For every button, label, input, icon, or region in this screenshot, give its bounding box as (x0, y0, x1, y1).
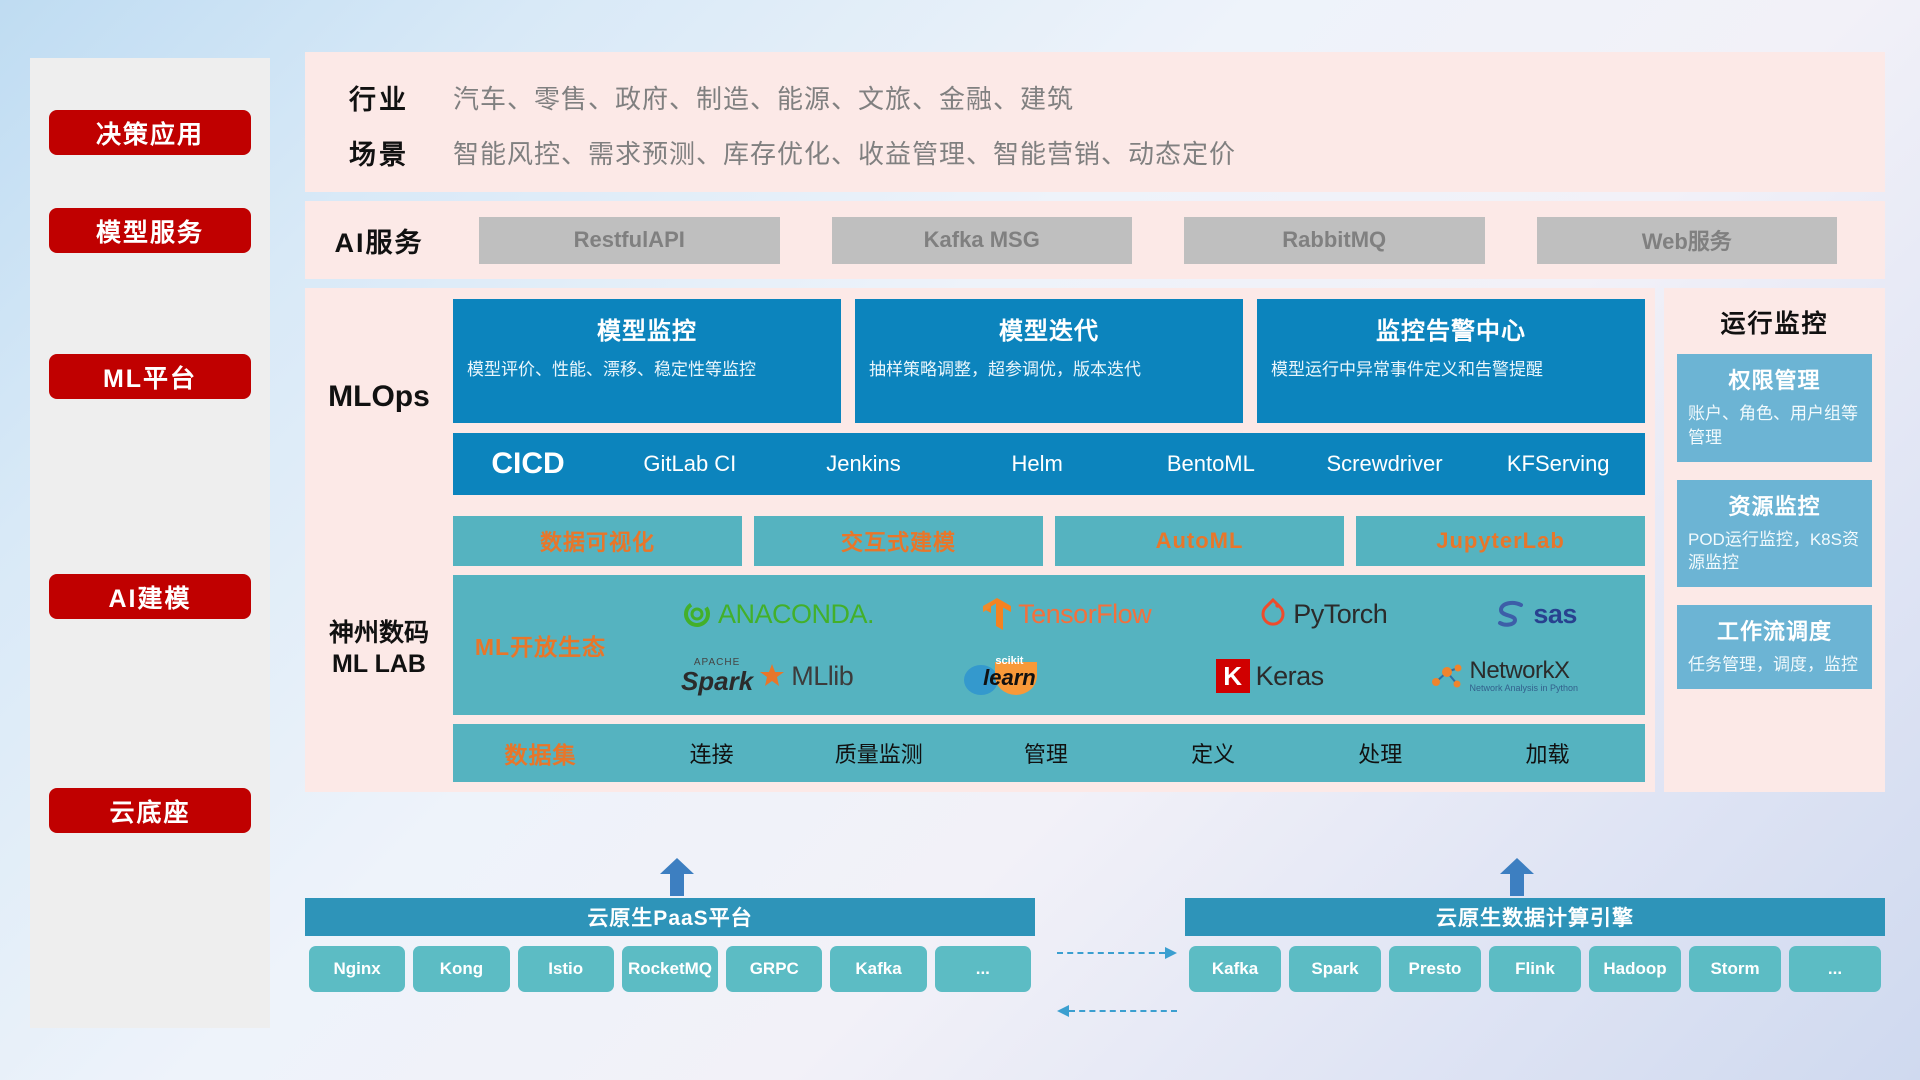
card-desc: 任务管理，调度，监控 (1688, 653, 1861, 677)
rail-item-label: 模型服务 (96, 213, 204, 249)
mllib-text: MLlib (791, 661, 853, 692)
engine-chip-flink[interactable]: Flink (1489, 946, 1581, 992)
card-desc: 模型运行中异常事件定义和告警提醒 (1271, 358, 1631, 383)
ai-service-band: AI服务 RestfulAPI Kafka MSG RabbitMQ Web服务 (305, 201, 1885, 279)
compute-engine-title: 云原生数据计算引擎 (1185, 898, 1885, 936)
card-title: 模型迭代 (869, 311, 1229, 346)
compute-engine-group: 云原生数据计算引擎 Kafka Spark Presto Flink Hadoo… (1185, 898, 1885, 996)
card-title: 工作流调度 (1688, 614, 1861, 646)
dataset-item-connect[interactable]: 连接 (628, 737, 795, 769)
dataset-row: 数据集 连接 质量监测 管理 定义 处理 加载 (453, 724, 1645, 782)
cicd-bar: CICD GitLab CI Jenkins Helm BentoML Scre… (453, 433, 1645, 495)
ai-chip-kafka-msg[interactable]: Kafka MSG (832, 217, 1133, 264)
runtime-monitoring-title: 运行监控 (1677, 304, 1872, 340)
paas-chip-rocketmq[interactable]: RocketMQ (622, 946, 718, 992)
rail-item-model-service[interactable]: 模型服务 (49, 208, 251, 253)
networkx-text: NetworkX (1470, 658, 1579, 684)
mlops-card-model-monitoring[interactable]: 模型监控 模型评价、性能、漂移、稳定性等监控 (453, 299, 841, 423)
pytorch-text: PyTorch (1293, 599, 1387, 630)
platform-region: MLOps 模型监控 模型评价、性能、漂移、稳定性等监控 模型迭代 抽样策略调整… (305, 288, 1885, 792)
mlops-band: MLOps 模型监控 模型评价、性能、漂移、稳定性等监控 模型迭代 抽样策略调整… (305, 288, 1655, 506)
sas-text: sas (1533, 599, 1577, 630)
scenario-row: 场景 智能风控、需求预测、库存优化、收益管理、智能营销、动态定价 (305, 125, 1885, 180)
ml-open-ecosystem: ML开放生态 ANACONDA. TensorFlow (453, 575, 1645, 715)
runtime-monitoring-panel: 运行监控 权限管理 账户、角色、用户组等管理 资源监控 POD运行监控，K8S资… (1664, 288, 1885, 792)
ai-chip-web-service[interactable]: Web服务 (1537, 217, 1838, 264)
engine-chip-hadoop[interactable]: Hadoop (1589, 946, 1681, 992)
spark-text: Spark (681, 668, 753, 694)
ai-service-label: AI服务 (305, 221, 453, 260)
eco-logo-row-1: ANACONDA. TensorFlow PyTorch (628, 583, 1631, 645)
keras-mark: K (1216, 659, 1250, 693)
spark-star-icon (759, 663, 785, 689)
mlops-card-list: 模型监控 模型评价、性能、漂移、稳定性等监控 模型迭代 抽样策略调整，超参调优，… (453, 299, 1645, 423)
cicd-title: CICD (453, 447, 603, 481)
eco-logo-row-2: APACHE Spark MLlib (628, 645, 1631, 707)
learn-text: learn (983, 667, 1036, 689)
rail-item-decision-apps[interactable]: 决策应用 (49, 110, 251, 155)
card-title: 监控告警中心 (1271, 311, 1631, 346)
anaconda-logo: ANACONDA. (682, 599, 874, 630)
card-desc: 模型评价、性能、漂移、稳定性等监控 (467, 358, 827, 383)
cicd-item-jenkins[interactable]: Jenkins (777, 453, 951, 475)
dataset-item-process[interactable]: 处理 (1297, 737, 1464, 769)
rail-item-label: ML平台 (103, 359, 197, 395)
cicd-item-screwdriver[interactable]: Screwdriver (1298, 453, 1472, 475)
cicd-item-kfserving[interactable]: KFServing (1471, 453, 1645, 475)
engine-chip-kafka[interactable]: Kafka (1189, 946, 1281, 992)
anaconda-text: ANACONDA. (718, 599, 874, 630)
ai-chip-restfulapi[interactable]: RestfulAPI (479, 217, 780, 264)
sas-logo: sas (1495, 599, 1577, 630)
ai-service-items: RestfulAPI Kafka MSG RabbitMQ Web服务 (453, 217, 1885, 264)
card-desc: 抽样策略调整，超参调优，版本迭代 (869, 358, 1229, 383)
networkx-logo: NetworkX Network Analysis in Python (1430, 658, 1579, 694)
card-desc: POD运行监控，K8S资源监控 (1688, 528, 1861, 576)
paas-group: 云原生PaaS平台 Nginx Kong Istio RocketMQ GRPC… (305, 898, 1035, 996)
up-arrow-icon-engine (1500, 858, 1534, 896)
mlops-card-alert-center[interactable]: 监控告警中心 模型运行中异常事件定义和告警提醒 (1257, 299, 1645, 423)
card-title: 权限管理 (1688, 363, 1861, 395)
arrow-left-icon (1057, 1010, 1177, 1012)
card-desc: 账户、角色、用户组等管理 (1688, 402, 1861, 450)
monitor-card-workflow[interactable]: 工作流调度 任务管理，调度，监控 (1677, 605, 1872, 689)
industry-values: 汽车、零售、政府、制造、能源、文旅、金融、建筑 (453, 79, 1074, 116)
cloud-foundation-region: 云原生PaaS平台 Nginx Kong Istio RocketMQ GRPC… (305, 880, 1885, 1045)
architecture-main: 行业 汽车、零售、政府、制造、能源、文旅、金融、建筑 场景 智能风控、需求预测、… (305, 52, 1885, 801)
rail-item-label: 云底座 (109, 793, 190, 829)
engine-chip-presto[interactable]: Presto (1389, 946, 1481, 992)
keras-text: Keras (1256, 661, 1324, 692)
lab-tool-automl[interactable]: AutoML (1055, 516, 1344, 566)
card-title: 模型监控 (467, 311, 827, 346)
compute-engine-chip-list: Kafka Spark Presto Flink Hadoop Storm ..… (1185, 936, 1885, 996)
scikit-learn-logo: scikit learn (959, 652, 1110, 700)
ml-open-ecosystem-label: ML开放生态 (453, 628, 628, 662)
dataset-item-load[interactable]: 加载 (1464, 737, 1631, 769)
paas-chip-grpc[interactable]: GRPC (726, 946, 822, 992)
mlops-label: MLOps (305, 299, 453, 495)
monitor-card-resource[interactable]: 资源监控 POD运行监控，K8S资源监控 (1677, 480, 1872, 588)
rail-item-cloud-base[interactable]: 云底座 (49, 788, 251, 833)
rail-item-label: AI建模 (108, 579, 191, 615)
pytorch-logo: PyTorch (1259, 598, 1387, 630)
cicd-item-gitlab-ci[interactable]: GitLab CI (603, 453, 777, 475)
engine-chip-storm[interactable]: Storm (1689, 946, 1781, 992)
networkx-subtitle: Network Analysis in Python (1470, 684, 1579, 694)
lab-tool-jupyterlab[interactable]: JupyterLab (1356, 516, 1645, 566)
engine-chip-more[interactable]: ... (1789, 946, 1881, 992)
paas-chip-more[interactable]: ... (935, 946, 1031, 992)
arrow-right-icon (1057, 952, 1177, 954)
dataset-item-quality-monitoring[interactable]: 质量监测 (795, 737, 962, 769)
rail-item-label: 决策应用 (96, 115, 204, 151)
paas-title: 云原生PaaS平台 (305, 898, 1035, 936)
ml-lab-label-line2: ML LAB (332, 649, 426, 680)
stack-layer-rail: 决策应用 模型服务 ML平台 AI建模 云底座 (30, 58, 270, 1028)
paas-chip-kafka[interactable]: Kafka (830, 946, 926, 992)
lab-tool-interactive-modeling[interactable]: 交互式建模 (754, 516, 1043, 566)
paas-chip-nginx[interactable]: Nginx (309, 946, 405, 992)
monitor-card-permission[interactable]: 权限管理 账户、角色、用户组等管理 (1677, 354, 1872, 462)
engine-chip-spark[interactable]: Spark (1289, 946, 1381, 992)
paas-chip-istio[interactable]: Istio (518, 946, 614, 992)
ai-chip-rabbitmq[interactable]: RabbitMQ (1184, 217, 1485, 264)
ml-lab-label: 神州数码 ML LAB (305, 516, 453, 782)
rail-item-ai-modeling[interactable]: AI建模 (49, 574, 251, 619)
tensorflow-logo: TensorFlow (982, 597, 1151, 631)
dataset-item-define[interactable]: 定义 (1130, 737, 1297, 769)
industry-row: 行业 汽车、零售、政府、制造、能源、文旅、金融、建筑 (305, 70, 1885, 125)
keras-logo: K Keras (1216, 659, 1324, 693)
ml-lab-band: 神州数码 ML LAB 数据可视化 交互式建模 AutoML JupyterLa… (305, 506, 1655, 792)
lab-tool-data-visualization[interactable]: 数据可视化 (453, 516, 742, 566)
ml-lab-label-line1: 神州数码 (329, 618, 429, 649)
mlops-card-model-iteration[interactable]: 模型迭代 抽样策略调整，超参调优，版本迭代 (855, 299, 1243, 423)
industry-label: 行业 (305, 78, 453, 117)
scenario-values: 智能风控、需求预测、库存优化、收益管理、智能营销、动态定价 (453, 134, 1236, 171)
spark-mllib-logo: APACHE Spark MLlib (681, 658, 853, 694)
lab-tool-list: 数据可视化 交互式建模 AutoML JupyterLab (453, 516, 1645, 566)
card-title: 资源监控 (1688, 489, 1861, 521)
rail-item-ml-platform[interactable]: ML平台 (49, 354, 251, 399)
dataset-item-manage[interactable]: 管理 (962, 737, 1129, 769)
up-arrow-icon-paas (660, 858, 694, 896)
paas-chip-kong[interactable]: Kong (413, 946, 509, 992)
scenario-label: 场景 (305, 133, 453, 172)
dataset-title: 数据集 (453, 736, 628, 770)
paas-chip-list: Nginx Kong Istio RocketMQ GRPC Kafka ... (305, 936, 1035, 996)
tensorflow-text: TensorFlow (1018, 599, 1151, 630)
cicd-item-bentoml[interactable]: BentoML (1124, 453, 1298, 475)
decision-apps-band: 行业 汽车、零售、政府、制造、能源、文旅、金融、建筑 场景 智能风控、需求预测、… (305, 52, 1885, 192)
cicd-item-helm[interactable]: Helm (950, 453, 1124, 475)
